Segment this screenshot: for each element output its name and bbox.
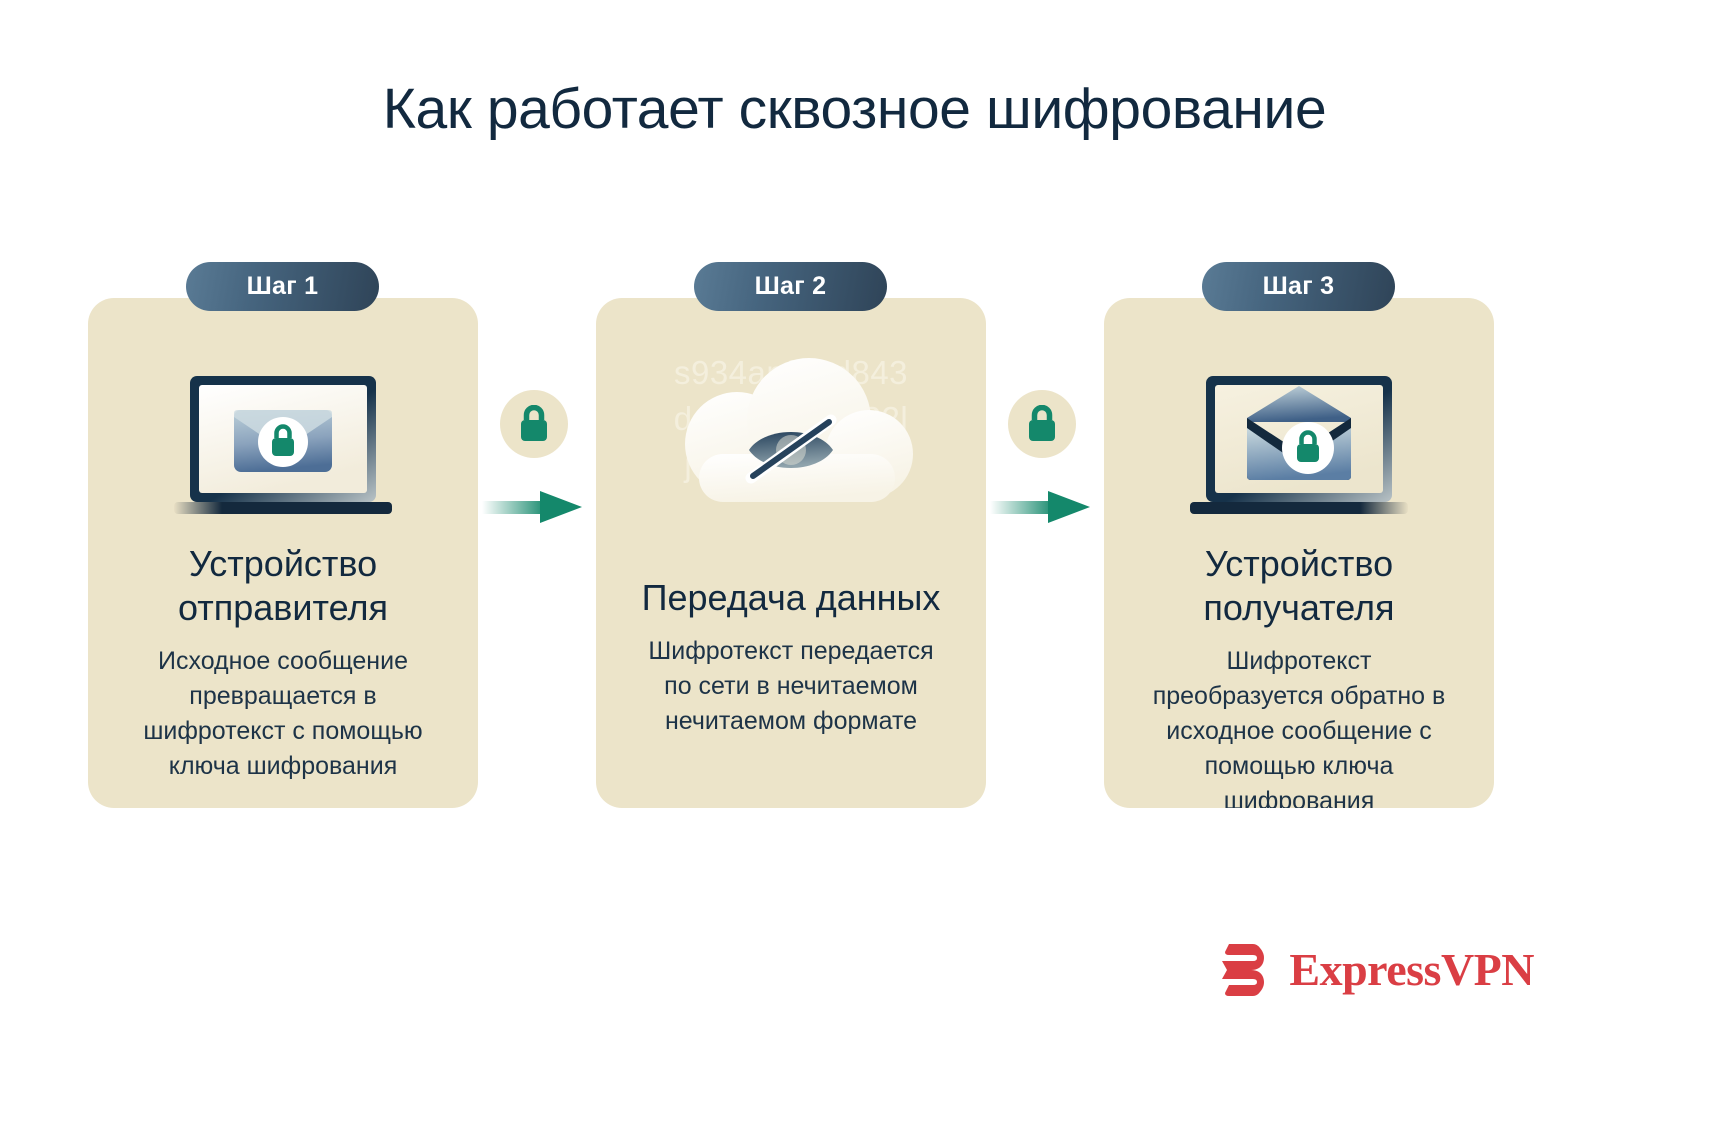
step-2-body: Шифротекст передается по сети в нечитаем… [620, 634, 962, 739]
connector-lock-1 [500, 390, 568, 458]
step-1-heading: Устройство отправителя [112, 542, 454, 630]
step-badge-3: Шаг 3 [1202, 262, 1395, 311]
flow-diagram: Устройство отправителя Исходное сообщени… [0, 262, 1709, 882]
step-card-1: Устройство отправителя Исходное сообщени… [88, 298, 478, 808]
logo-wordmark: ExpressVPN [1289, 943, 1534, 996]
step-2-artwork [596, 338, 986, 558]
step-3-artwork [1104, 354, 1494, 554]
step-3-body: Шифротекст преобразуется обратно в исход… [1128, 644, 1470, 808]
padlock-icon [1025, 405, 1059, 443]
step-1-body: Исходное сообщение превращается в шифрот… [112, 644, 454, 784]
step-badge-2: Шаг 2 [694, 262, 887, 311]
laptop-open-envelope-lock-icon [1184, 372, 1414, 537]
step-3-copy: Устройство получателя Шифротекст преобра… [1104, 542, 1494, 808]
laptop-closed-envelope-lock-icon [168, 372, 398, 537]
step-badge-1: Шаг 1 [186, 262, 379, 311]
step-1-artwork [88, 354, 478, 554]
expressvpn-e-mark-icon [1213, 939, 1275, 999]
arrow-right-icon-1 [482, 490, 586, 524]
padlock-icon [517, 405, 551, 443]
expressvpn-logo: ExpressVPN [1213, 939, 1534, 999]
connector-lock-2 [1008, 390, 1076, 458]
arrow-right-icon-2 [990, 490, 1094, 524]
step-2-copy: Передача данных Шифротекст передается по… [596, 576, 986, 739]
step-card-2: s934anf4ud843 da48waid4sj32l j02mfs8nd43… [596, 298, 986, 808]
step-2-heading: Передача данных [620, 576, 962, 620]
cloud-hidden-eye-icon [641, 358, 941, 538]
step-card-3: Устройство получателя Шифротекст преобра… [1104, 298, 1494, 808]
page-title: Как работает сквозное шифрование [0, 78, 1709, 141]
step-1-copy: Устройство отправителя Исходное сообщени… [88, 542, 478, 784]
step-3-heading: Устройство получателя [1128, 542, 1470, 630]
